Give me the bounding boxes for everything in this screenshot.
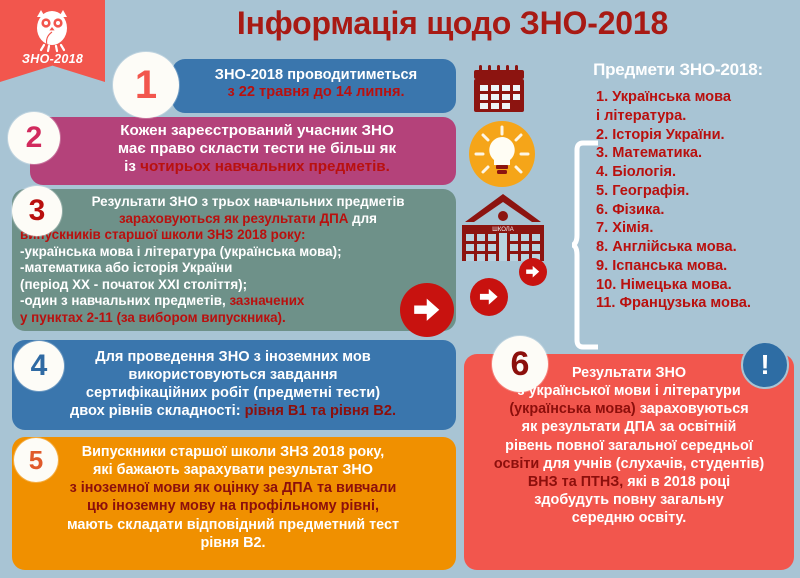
school-building-icon: ШКОЛА xyxy=(458,192,548,268)
text-line: випускників старшої школи ЗНЗ 2018 року: xyxy=(20,227,448,244)
info-block-4: Для проведення ЗНО з іноземних моввикори… xyxy=(12,340,456,430)
info-block-3-text: Результати ЗНО з трьох навчальних предме… xyxy=(12,189,456,326)
text-segment: ЗНО-2018 проводитиметься xyxy=(215,67,417,83)
text-segment: -математика або історія України xyxy=(20,260,232,275)
text-segment: -українська мова і література (українськ… xyxy=(20,244,342,259)
text-line: здобудуть повну загальну xyxy=(472,491,786,509)
block-number-5: 5 xyxy=(14,438,58,482)
calendar-icon xyxy=(473,62,531,116)
text-line: Для проведення ЗНО з іноземних мов xyxy=(20,348,446,366)
text-line: -математика або історія України xyxy=(20,260,448,277)
text-segment: які в 2018 році xyxy=(627,474,730,490)
text-line: як результати ДПА за освітній xyxy=(472,418,786,436)
text-segment: зараховуються xyxy=(640,401,749,417)
text-line: ЗНО-2018 проводитиметься xyxy=(186,67,446,84)
text-segment: у пунктах 2-11 (за вибором випускника). xyxy=(20,310,286,325)
text-segment: з української мови і літератури xyxy=(517,383,740,399)
text-line: (українська мова) зараховуються xyxy=(472,400,786,418)
text-line: ВНЗ та ПТНЗ, які в 2018 році xyxy=(472,473,786,491)
info-block-1-text: ЗНО-2018 проводитиметьсяз 22 травня до 1… xyxy=(172,59,456,101)
text-segment: здобудуть повну загальну xyxy=(534,492,723,508)
info-block-3: Результати ЗНО з трьох навчальних предме… xyxy=(12,189,456,331)
school-label: ШКОЛА xyxy=(492,227,513,233)
text-segment: для учнів (слухачів, студентів) xyxy=(543,456,764,472)
info-block-5: Випускники старшої школи ЗНЗ 2018 року,я… xyxy=(12,437,456,570)
text-segment: сертифікаційних робіт (предметні тести) xyxy=(86,385,380,401)
text-line: які бажають зарахувати результат ЗНО xyxy=(20,461,446,479)
text-segment: Кожен зареєстрований учасник ЗНО xyxy=(120,122,394,139)
text-segment: цю іноземну мову на профільному рівні, xyxy=(87,498,379,514)
text-segment: зазначених xyxy=(229,293,304,308)
text-line: мають складати відповідний предметний те… xyxy=(20,516,446,534)
text-line: з 22 травня до 14 липня. xyxy=(186,84,446,101)
text-segment: випускників старшої школи ЗНЗ 2018 року: xyxy=(20,227,305,242)
block-number-4: 4 xyxy=(14,341,64,391)
text-segment: Результати ЗНО xyxy=(572,365,686,381)
info-block-2: Кожен зареєстрований учасник ЗНОмає прав… xyxy=(30,117,456,185)
text-segment: мають складати відповідний предметний те… xyxy=(67,517,399,533)
subject-item: 10. Німецька мова. xyxy=(596,276,800,295)
block-number-6: 6 xyxy=(492,336,548,392)
text-segment: освіти xyxy=(494,456,543,472)
text-segment: використовуються завдання xyxy=(128,367,337,383)
text-segment: Результати ЗНО з трьох навчальних предме… xyxy=(92,194,405,209)
text-line: має право скласти тести не більш як xyxy=(68,140,446,158)
arrow-right-circle-icon-1 xyxy=(400,283,454,337)
lightbulb-icon xyxy=(468,120,536,188)
block-number-1: 1 xyxy=(113,52,179,118)
text-segment: з іноземної мови як оцінку за ДПА та вив… xyxy=(70,480,397,496)
info-block-5-text: Випускники старшої школи ЗНЗ 2018 року,я… xyxy=(12,437,456,552)
text-line: Випускники старшої школи ЗНЗ 2018 року, xyxy=(20,443,446,461)
subjects-title: Предмети ЗНО-2018: xyxy=(556,60,800,80)
text-line: рівня В2. xyxy=(20,534,446,552)
exclamation-badge-icon: ! xyxy=(741,341,789,389)
arrow-right-circle-icon-2 xyxy=(470,278,508,316)
text-segment: середню освіту. xyxy=(572,510,687,526)
subject-item: 7. Хімія. xyxy=(596,219,800,238)
info-block-1: ЗНО-2018 проводитиметьсяз 22 травня до 1… xyxy=(172,59,456,113)
subject-item: 2. Історія України. xyxy=(596,126,800,145)
subject-item: 9. Іспанська мова. xyxy=(596,257,800,276)
logo-banner: ЗНО-2018 xyxy=(0,0,105,82)
subject-item: 4. Біологія. xyxy=(596,163,800,182)
text-segment: рівня В1 та рівня В2. xyxy=(245,403,396,419)
text-segment: Для проведення ЗНО з іноземних мов xyxy=(95,349,371,365)
subject-item: 11. Французька мова. xyxy=(596,294,800,313)
text-line: з іноземної мови як оцінку за ДПА та вив… xyxy=(20,479,446,497)
block-number-3: 3 xyxy=(12,186,62,236)
infographic-poster: ЗНО-2018 Інформація щодо ЗНО-2018 ЗНО-20… xyxy=(0,0,800,578)
text-line: середню освіту. xyxy=(472,509,786,527)
text-line: зараховуються як результати ДПА для xyxy=(20,211,448,228)
text-segment: зараховуються як результати ДПА xyxy=(119,211,352,226)
page-title: Інформація щодо ЗНО-2018 xyxy=(105,0,800,46)
subjects-list: 1. Українська моваі література.2. Історі… xyxy=(596,88,800,313)
text-line: Результати ЗНО з трьох навчальних предме… xyxy=(20,194,448,211)
subject-item: 3. Математика. xyxy=(596,144,800,163)
curly-brace-icon xyxy=(572,140,598,350)
info-block-2-text: Кожен зареєстрований учасник ЗНОмає прав… xyxy=(30,117,456,176)
logo-text: ЗНО-2018 xyxy=(0,52,105,66)
text-segment: із xyxy=(124,158,140,175)
subject-item: 8. Англійська мова. xyxy=(596,238,800,257)
text-segment: як результати ДПА за освітній xyxy=(522,419,737,435)
text-line: -один з навчальних предметів, зазначених xyxy=(20,293,448,310)
text-segment: чотирьох навчальних предметів. xyxy=(140,158,390,175)
text-line: із чотирьох навчальних предметів. xyxy=(68,158,446,176)
subject-item: і література. xyxy=(596,107,800,126)
text-segment: -один з навчальних предметів, xyxy=(20,293,229,308)
owl-icon xyxy=(28,8,76,54)
text-line: рівень повної загальної середньої xyxy=(472,437,786,455)
text-segment: (українська мова) xyxy=(509,401,639,417)
subject-item: 5. Географія. xyxy=(596,182,800,201)
text-line: сертифікаційних робіт (предметні тести) xyxy=(20,384,446,402)
text-segment: які бажають зарахувати результат ЗНО xyxy=(93,462,373,478)
text-line: двох рівнів складності: рівня В1 та рівн… xyxy=(20,402,446,420)
text-segment: має право скласти тести не більш як xyxy=(118,140,396,157)
text-segment: двох рівнів складності: xyxy=(70,403,245,419)
text-line: у пунктах 2-11 (за вибором випускника). xyxy=(20,310,448,327)
text-segment: ВНЗ та ПТНЗ, xyxy=(528,474,627,490)
text-segment: для xyxy=(352,211,377,226)
text-line: -українська мова і література (українськ… xyxy=(20,244,448,261)
text-segment: рівень повної загальної середньої xyxy=(505,438,753,454)
text-line: освіти для учнів (слухачів, студентів) xyxy=(472,455,786,473)
text-line: використовуються завдання xyxy=(20,366,446,384)
block-number-2: 2 xyxy=(8,112,60,164)
text-segment: з 22 травня до 14 липня. xyxy=(227,84,404,100)
text-line: цю іноземну мову на профільному рівні, xyxy=(20,497,446,515)
subject-item: 6. Фізика. xyxy=(596,201,800,220)
text-line: Кожен зареєстрований учасник ЗНО xyxy=(68,122,446,140)
text-line: (період XX - початок XXI століття); xyxy=(20,277,448,294)
subject-item: 1. Українська мова xyxy=(596,88,800,107)
text-segment: Випускники старшої школи ЗНЗ 2018 року, xyxy=(82,444,385,460)
arrow-right-circle-icon-3 xyxy=(519,258,547,286)
text-segment: (період XX - початок XXI століття); xyxy=(20,277,247,292)
info-block-4-text: Для проведення ЗНО з іноземних моввикори… xyxy=(12,340,456,420)
text-segment: рівня В2. xyxy=(200,535,265,551)
